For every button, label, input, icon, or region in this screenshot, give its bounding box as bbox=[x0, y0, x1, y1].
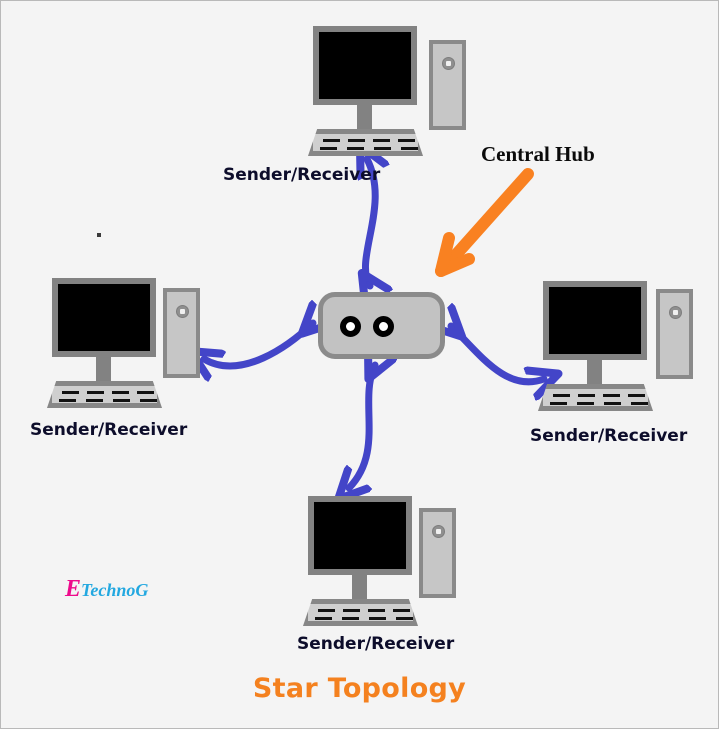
central-hub[interactable] bbox=[318, 292, 445, 359]
central-hub-label: Central Hub bbox=[481, 142, 595, 167]
monitor-frame-bottom bbox=[308, 496, 412, 575]
monitor-frame-top bbox=[313, 26, 417, 105]
hub-led-indicator-1 bbox=[340, 316, 361, 337]
keyboard-top bbox=[308, 129, 423, 156]
monitor-neck-left bbox=[96, 357, 111, 381]
power-button-icon-right bbox=[669, 306, 682, 319]
monitor-screen-left bbox=[58, 284, 150, 351]
monitor-neck-right bbox=[587, 360, 602, 384]
keyboard-right bbox=[538, 384, 653, 411]
diagram-title: Star Topology bbox=[1, 673, 718, 704]
hub-led-indicator-2 bbox=[373, 316, 394, 337]
computer-tower-top bbox=[429, 40, 466, 130]
monitor-screen-bottom bbox=[314, 502, 406, 569]
workstation-right[interactable] bbox=[531, 281, 701, 411]
workstation-left[interactable] bbox=[44, 278, 209, 408]
computer-tower-bottom bbox=[419, 508, 456, 598]
star-topology-diagram: Central Hub Sender/Receiver bbox=[0, 0, 719, 729]
node-label-bottom: Sender/Receiver bbox=[297, 634, 454, 654]
workstation-top[interactable] bbox=[301, 26, 471, 156]
monitor-neck-bottom bbox=[352, 575, 367, 599]
computer-tower-left bbox=[163, 288, 200, 378]
monitor-frame-left bbox=[52, 278, 156, 357]
monitor-frame-right bbox=[543, 281, 647, 360]
watermark-logo: ETechnoG bbox=[65, 576, 148, 603]
link-hub-to-bottom bbox=[349, 365, 375, 488]
node-label-right: Sender/Receiver bbox=[530, 426, 687, 446]
power-button-icon-top bbox=[442, 57, 455, 70]
workstation-bottom[interactable] bbox=[296, 496, 466, 626]
node-label-top: Sender/Receiver bbox=[223, 165, 380, 185]
monitor-neck-top bbox=[357, 105, 372, 129]
central-hub-pointer-arrow bbox=[441, 174, 528, 271]
node-label-left: Sender/Receiver bbox=[30, 420, 187, 440]
keyboard-left bbox=[47, 381, 162, 408]
image-speck bbox=[97, 233, 101, 237]
link-hub-to-left bbox=[204, 323, 313, 366]
keyboard-bottom bbox=[303, 599, 418, 626]
computer-tower-right bbox=[656, 289, 693, 379]
power-button-icon-left bbox=[176, 305, 189, 318]
monitor-screen-right bbox=[549, 287, 641, 354]
power-button-icon-bottom bbox=[432, 525, 445, 538]
monitor-screen-top bbox=[319, 32, 411, 99]
watermark-initial: E bbox=[65, 576, 81, 602]
watermark-text: TechnoG bbox=[81, 580, 148, 600]
